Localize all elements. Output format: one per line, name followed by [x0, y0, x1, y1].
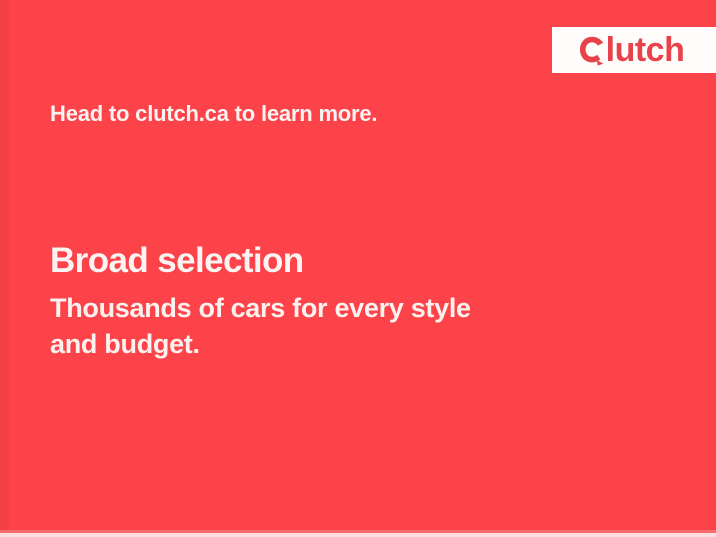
tagline-text: Head to clutch.ca to learn more.: [50, 101, 377, 127]
clutch-wordmark: lutch: [578, 33, 691, 67]
clutch-wordmark-text: lutch: [606, 33, 685, 67]
left-edge-band: [0, 0, 9, 537]
bottom-edge-strip: [0, 533, 716, 537]
headline-group: Broad selection Thousands of cars for ev…: [50, 240, 650, 363]
clutch-c-mark-icon: [578, 33, 605, 67]
page-title: Broad selection: [50, 240, 650, 281]
subhead-text: Thousands of cars for every style and bu…: [50, 291, 580, 363]
clutch-logo-plate[interactable]: lutch: [552, 27, 716, 73]
subhead-line-2: and budget.: [50, 327, 580, 363]
subhead-line-1: Thousands of cars for every style: [50, 291, 580, 327]
slide-canvas: lutch Head to clutch.ca to learn more. B…: [0, 0, 716, 537]
